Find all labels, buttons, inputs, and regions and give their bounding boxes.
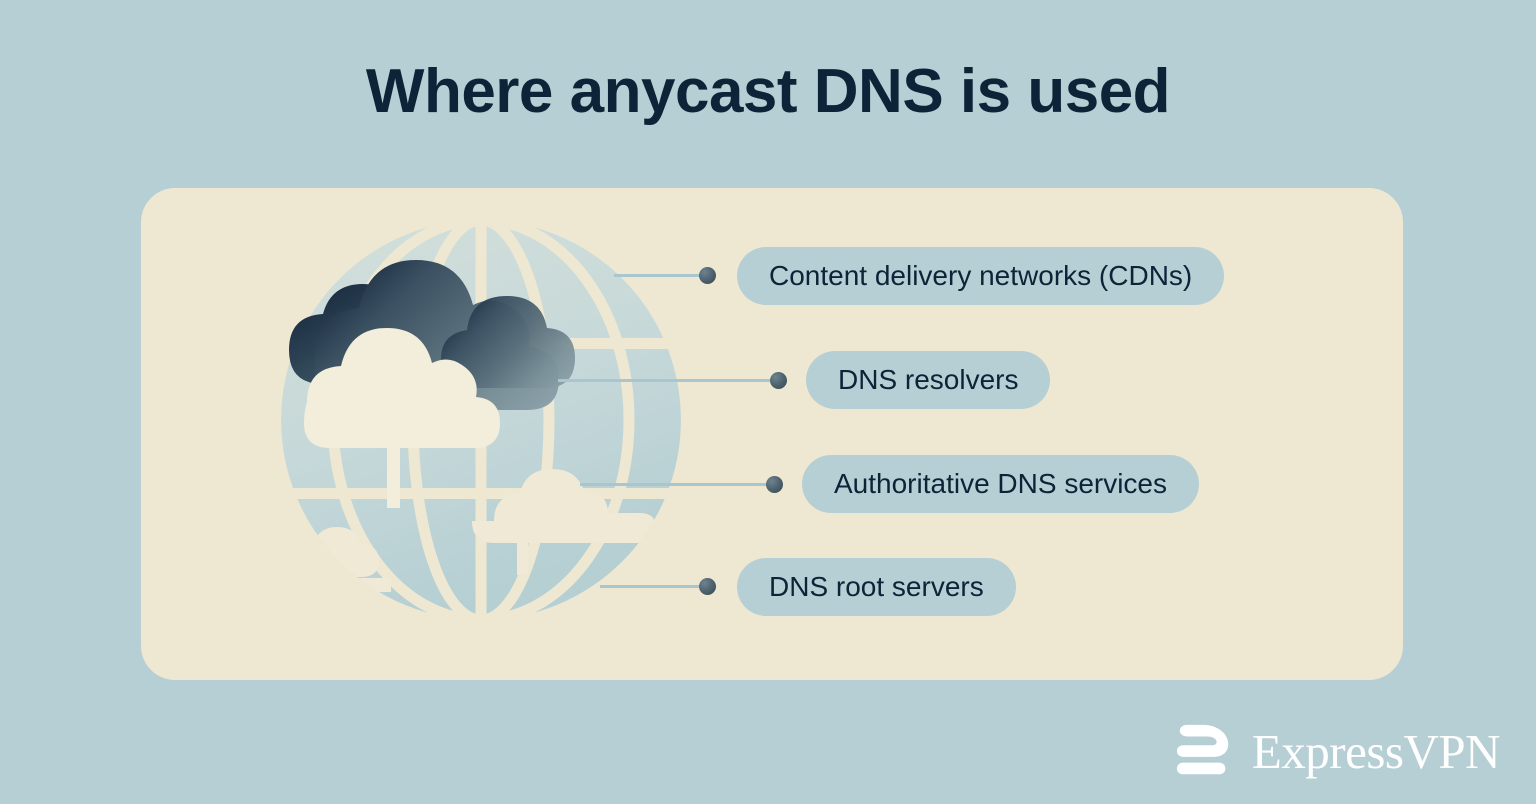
brand-logo-wordmark: ExpressVPN	[1252, 727, 1500, 776]
connector-dot-4	[699, 578, 716, 595]
connector-dot-3	[766, 476, 783, 493]
connector-line-1	[614, 274, 702, 277]
connector-dot-1	[699, 267, 716, 284]
label-pill-dns-root-servers-text: DNS root servers	[769, 573, 984, 601]
label-pill-cdn-text: Content delivery networks (CDNs)	[769, 262, 1192, 290]
page-title: Where anycast DNS is used	[0, 56, 1536, 127]
label-pill-authoritative-dns-text: Authoritative DNS services	[834, 470, 1167, 498]
expressvpn-e-logo-icon	[1174, 720, 1236, 782]
connector-dot-2	[770, 372, 787, 389]
infographic-card: Content delivery networks (CDNs) DNS res…	[141, 188, 1403, 680]
label-pill-dns-root-servers[interactable]: DNS root servers	[737, 558, 1016, 616]
globe-illustration	[271, 210, 691, 630]
brand-logo[interactable]: ExpressVPN	[1174, 720, 1500, 782]
connector-line-3	[580, 483, 770, 486]
label-pill-authoritative-dns[interactable]: Authoritative DNS services	[802, 455, 1199, 513]
label-pill-cdn[interactable]: Content delivery networks (CDNs)	[737, 247, 1224, 305]
label-pill-dns-resolvers[interactable]: DNS resolvers	[806, 351, 1050, 409]
label-pill-dns-resolvers-text: DNS resolvers	[838, 366, 1018, 394]
connector-line-4	[600, 585, 703, 588]
connector-line-2	[558, 379, 773, 382]
